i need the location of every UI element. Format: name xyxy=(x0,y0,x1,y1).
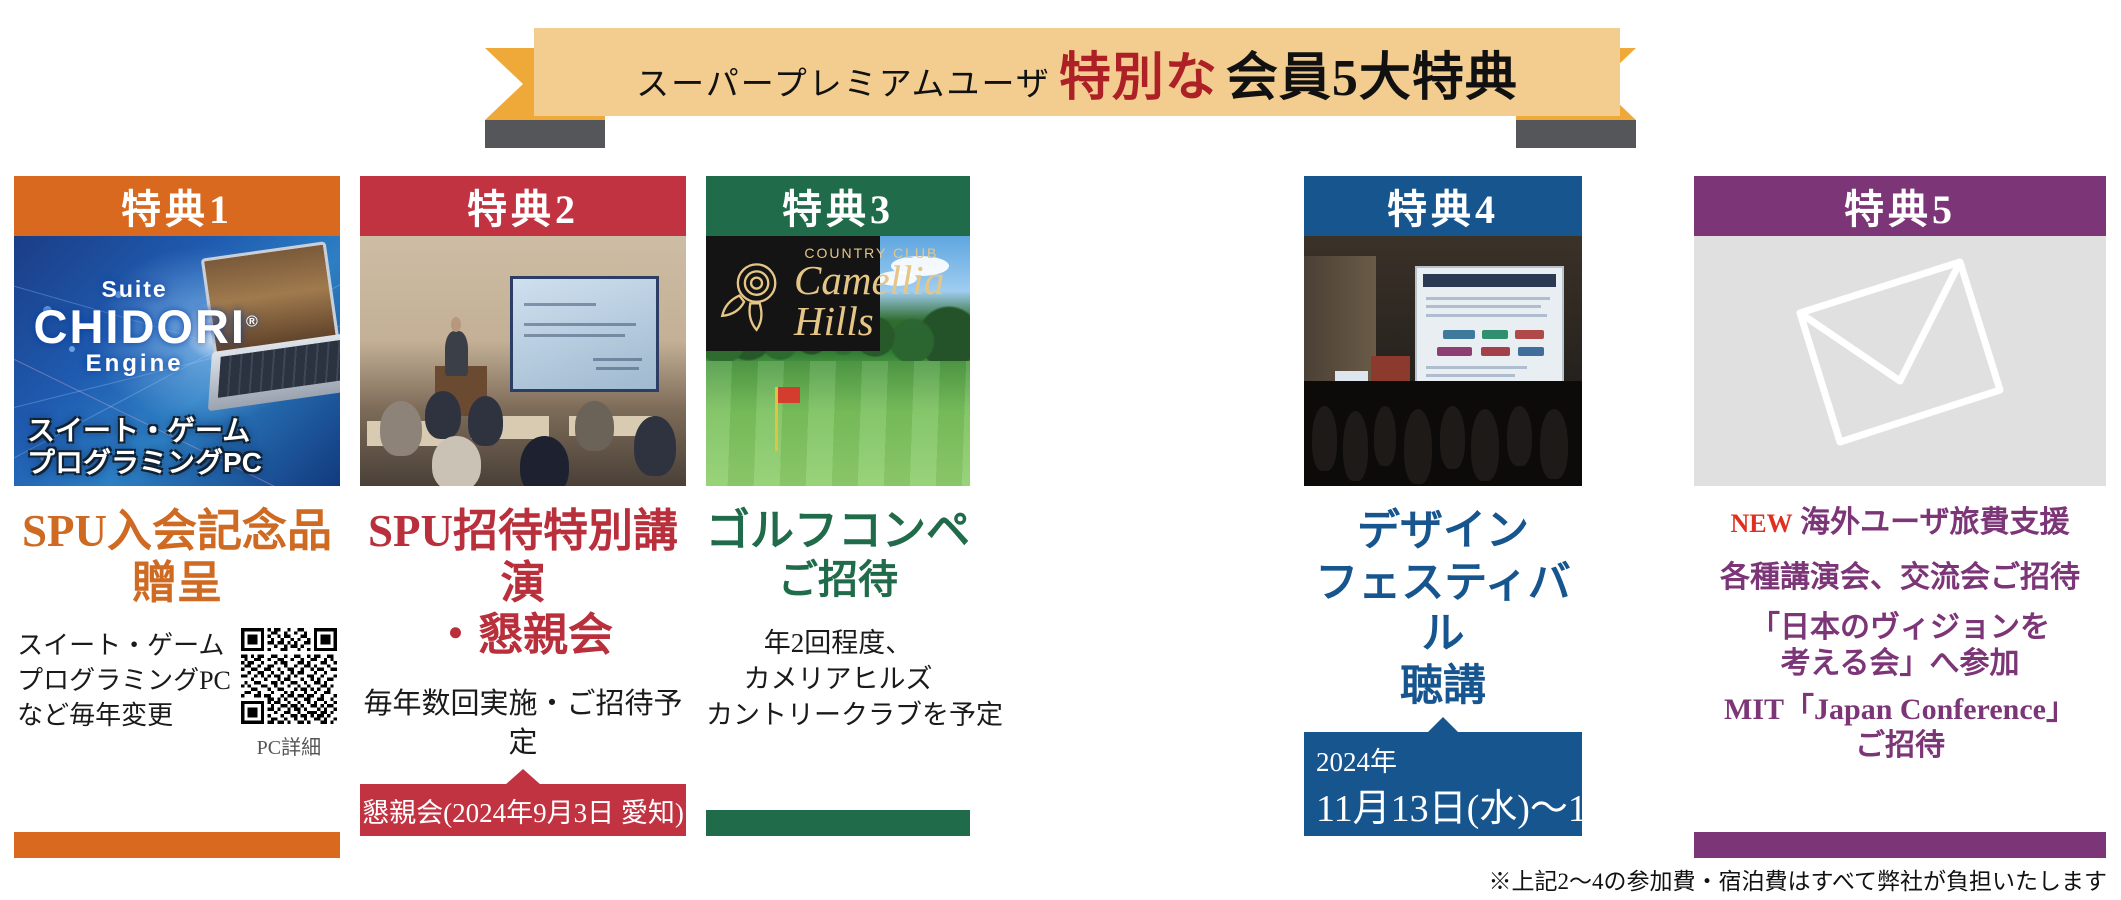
card-1-image: Suite CHIDORI® Engine スイート・ゲーム プログラミングPC xyxy=(14,236,340,486)
design-festival-photo xyxy=(1304,236,1582,486)
chidori-logo-main: CHIDORI® xyxy=(34,303,236,350)
chidori-logo-engine: Engine xyxy=(34,350,236,378)
envelope-icon xyxy=(1694,236,2106,486)
golf-course-photo: COUNTRY CLUB Camellia Hills xyxy=(706,236,970,486)
caption-line-1: スイート・ゲーム xyxy=(27,415,262,446)
benefit-card-2[interactable]: 特典2 xyxy=(360,176,686,764)
golf-flag-icon xyxy=(775,387,778,451)
camellia-hills-name: Camellia Hills xyxy=(794,260,944,342)
card-5-line-4: MIT「Japan Conference」 ご招待 xyxy=(1694,692,2106,764)
card-2-body: SPU招待特別講演 ・懇親会 毎年数回実施・ご招待予定 xyxy=(360,486,686,764)
card-1-footer-bar xyxy=(14,832,340,858)
chidori-artwork: Suite CHIDORI® Engine スイート・ゲーム プログラミングPC xyxy=(14,236,340,486)
card-1-title: SPU入会記念品 贈呈 xyxy=(14,506,340,610)
card-1-body: SPU入会記念品 贈呈 スイート・ゲーム プログラミングPC など毎年変更 xyxy=(14,486,340,760)
ribbon-text: スーパープレミアムユーザ 特別な 会員5大特典 xyxy=(636,35,1518,110)
card-3-title: ゴルフコンペ ご招待 xyxy=(706,506,970,603)
benefit-card-1[interactable]: 特典1 Suit xyxy=(14,176,340,760)
card-5-image xyxy=(1694,236,2106,486)
chidori-logo-suite: Suite xyxy=(34,276,236,303)
chidori-logo: Suite CHIDORI® Engine xyxy=(34,276,236,378)
card-5-header: 特典5 xyxy=(1694,176,2106,236)
lecture-projector-screen xyxy=(1415,266,1564,390)
card-2-footer-label: 懇親会(2024年9月3日 愛知) xyxy=(360,784,686,836)
card-2-title: SPU招待特別講演 ・懇親会 xyxy=(360,506,686,661)
card-4-title: デザイン フェスティバル 聴講 xyxy=(1304,506,1582,712)
card-1-header: 特典1 xyxy=(14,176,340,236)
ribbon-body: スーパープレミアムユーザ 特別な 会員5大特典 xyxy=(534,28,1620,116)
card-3-header: 特典3 xyxy=(706,176,970,236)
card-1-subtext: スイート・ゲーム プログラミングPC など毎年変更 xyxy=(17,628,231,733)
projector-screen xyxy=(510,276,659,392)
qr-code-icon[interactable] xyxy=(241,628,337,724)
ribbon-tail-shadow-right xyxy=(1516,120,1636,148)
header-ribbon: スーパープレミアムユーザ 特別な 会員5大特典 xyxy=(0,10,2121,120)
benefit-card-4[interactable]: 特典4 xyxy=(1304,176,1582,712)
card-5-line-3: 「日本のヴィジョンを 考える会」へ参加 xyxy=(1694,610,2106,682)
ribbon-highlight: 特別な xyxy=(1051,35,1226,110)
card-2-subtext: 毎年数回実施・ご招待予定 xyxy=(360,685,686,763)
card-4-date-year: 2024年 xyxy=(1316,740,1572,779)
card-3-subtext: 年2回程度、 カメリアヒルズ カントリークラブを予定 xyxy=(706,625,970,734)
camellia-flower-icon xyxy=(716,255,794,333)
ribbon-tail-shadow-left xyxy=(485,120,605,148)
card-5-line-2: 各種講演会、交流会ご招待 xyxy=(1694,555,2106,600)
card-4-date-main: 11月13日(水)〜15日(金) xyxy=(1316,777,1572,832)
notch-icon xyxy=(1425,717,1461,735)
card-2-image xyxy=(360,236,686,486)
card-5-footer-bar xyxy=(1694,832,2106,858)
qr-caption: PC詳細 xyxy=(241,731,337,760)
qr-block[interactable]: PC詳細 xyxy=(241,628,337,760)
camellia-hills-logo: COUNTRY CLUB Camellia Hills xyxy=(706,236,880,351)
card-2-header: 特典2 xyxy=(360,176,686,236)
caption-line-2: プログラミングPC xyxy=(27,447,262,478)
seminar-room-photo xyxy=(360,236,686,486)
new-badge: NEW xyxy=(1730,509,1792,538)
card-4-header: 特典4 xyxy=(1304,176,1582,236)
notch-icon xyxy=(505,769,541,785)
card-3-image: COUNTRY CLUB Camellia Hills xyxy=(706,236,970,486)
benefit-card-3[interactable]: 特典3 xyxy=(706,176,970,734)
ribbon-tail-text: 会員5大特典 xyxy=(1226,35,1518,110)
card-4-body: デザイン フェスティバル 聴講 xyxy=(1304,486,1582,712)
card-5-benefit-list: NEW 海外ユーザ旅費支援 各種講演会、交流会ご招待 「日本のヴィジョンを 考え… xyxy=(1694,500,2106,764)
card-1-image-caption: スイート・ゲーム プログラミングPC xyxy=(27,415,262,478)
card-2-footer-text: 懇親会(2024年9月3日 愛知) xyxy=(362,791,684,830)
card-4-footer-date: 2024年 11月13日(水)〜15日(金) xyxy=(1304,732,1582,836)
card-5-line-1: NEW 海外ユーザ旅費支援 xyxy=(1694,500,2106,545)
card-3-footer-bar xyxy=(706,810,970,836)
ribbon-lead: スーパープレミアムユーザ xyxy=(636,57,1051,105)
card-4-image xyxy=(1304,236,1582,486)
footnote: ※上記2〜4の参加費・宿泊費はすべて弊社が負担いたします xyxy=(1489,862,2107,896)
card-3-body: ゴルフコンペ ご招待 年2回程度、 カメリアヒルズ カントリークラブを予定 xyxy=(706,486,970,734)
benefit-cards: 特典1 Suit xyxy=(0,176,2121,876)
benefit-card-5[interactable]: 特典5 NEW 海外ユーザ旅費支援 各種講演会、交流会ご招待 「日本のヴィジョン… xyxy=(1694,176,2106,764)
card-5-body: NEW 海外ユーザ旅費支援 各種講演会、交流会ご招待 「日本のヴィジョンを 考え… xyxy=(1694,486,2106,764)
